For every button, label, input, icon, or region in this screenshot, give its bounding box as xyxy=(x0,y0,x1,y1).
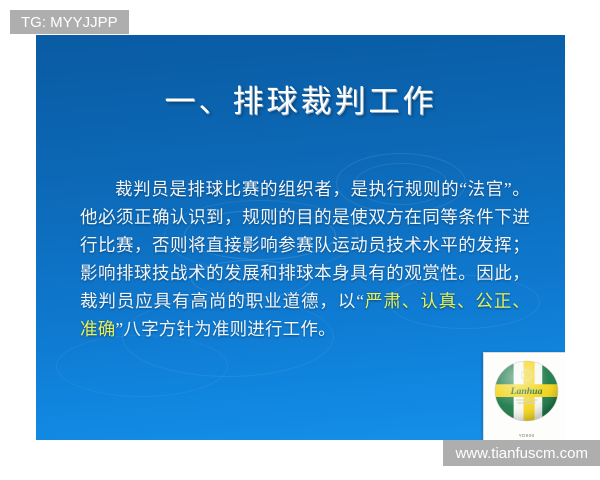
screenshot-root: 一、排球裁判工作 裁判员是排球比赛的组织者，是执行规则的“法官”。他必须正确认识… xyxy=(0,0,600,480)
volleyball-icon: Lanhua xyxy=(489,357,564,425)
slide-title: 一、排球裁判工作 xyxy=(36,83,565,120)
body-text-part-2: ”八字方针为准则进行工作。 xyxy=(115,319,335,339)
ripple-decoration-icon xyxy=(56,335,228,397)
volleyball-image-card: Lanhua YD908 xyxy=(483,352,565,440)
watermark-bottom-right: www.tianfuscm.com xyxy=(443,440,600,466)
volleyball-product-code: YD908 xyxy=(484,433,565,438)
watermark-top-left: TG: MYYJJPP xyxy=(10,10,129,34)
presentation-slide: 一、排球裁判工作 裁判员是排球比赛的组织者，是执行规则的“法官”。他必须正确认识… xyxy=(36,35,565,440)
slide-body-text: 裁判员是排球比赛的组织者，是执行规则的“法官”。他必须正确认识到，规则的目的是使… xyxy=(80,175,530,343)
